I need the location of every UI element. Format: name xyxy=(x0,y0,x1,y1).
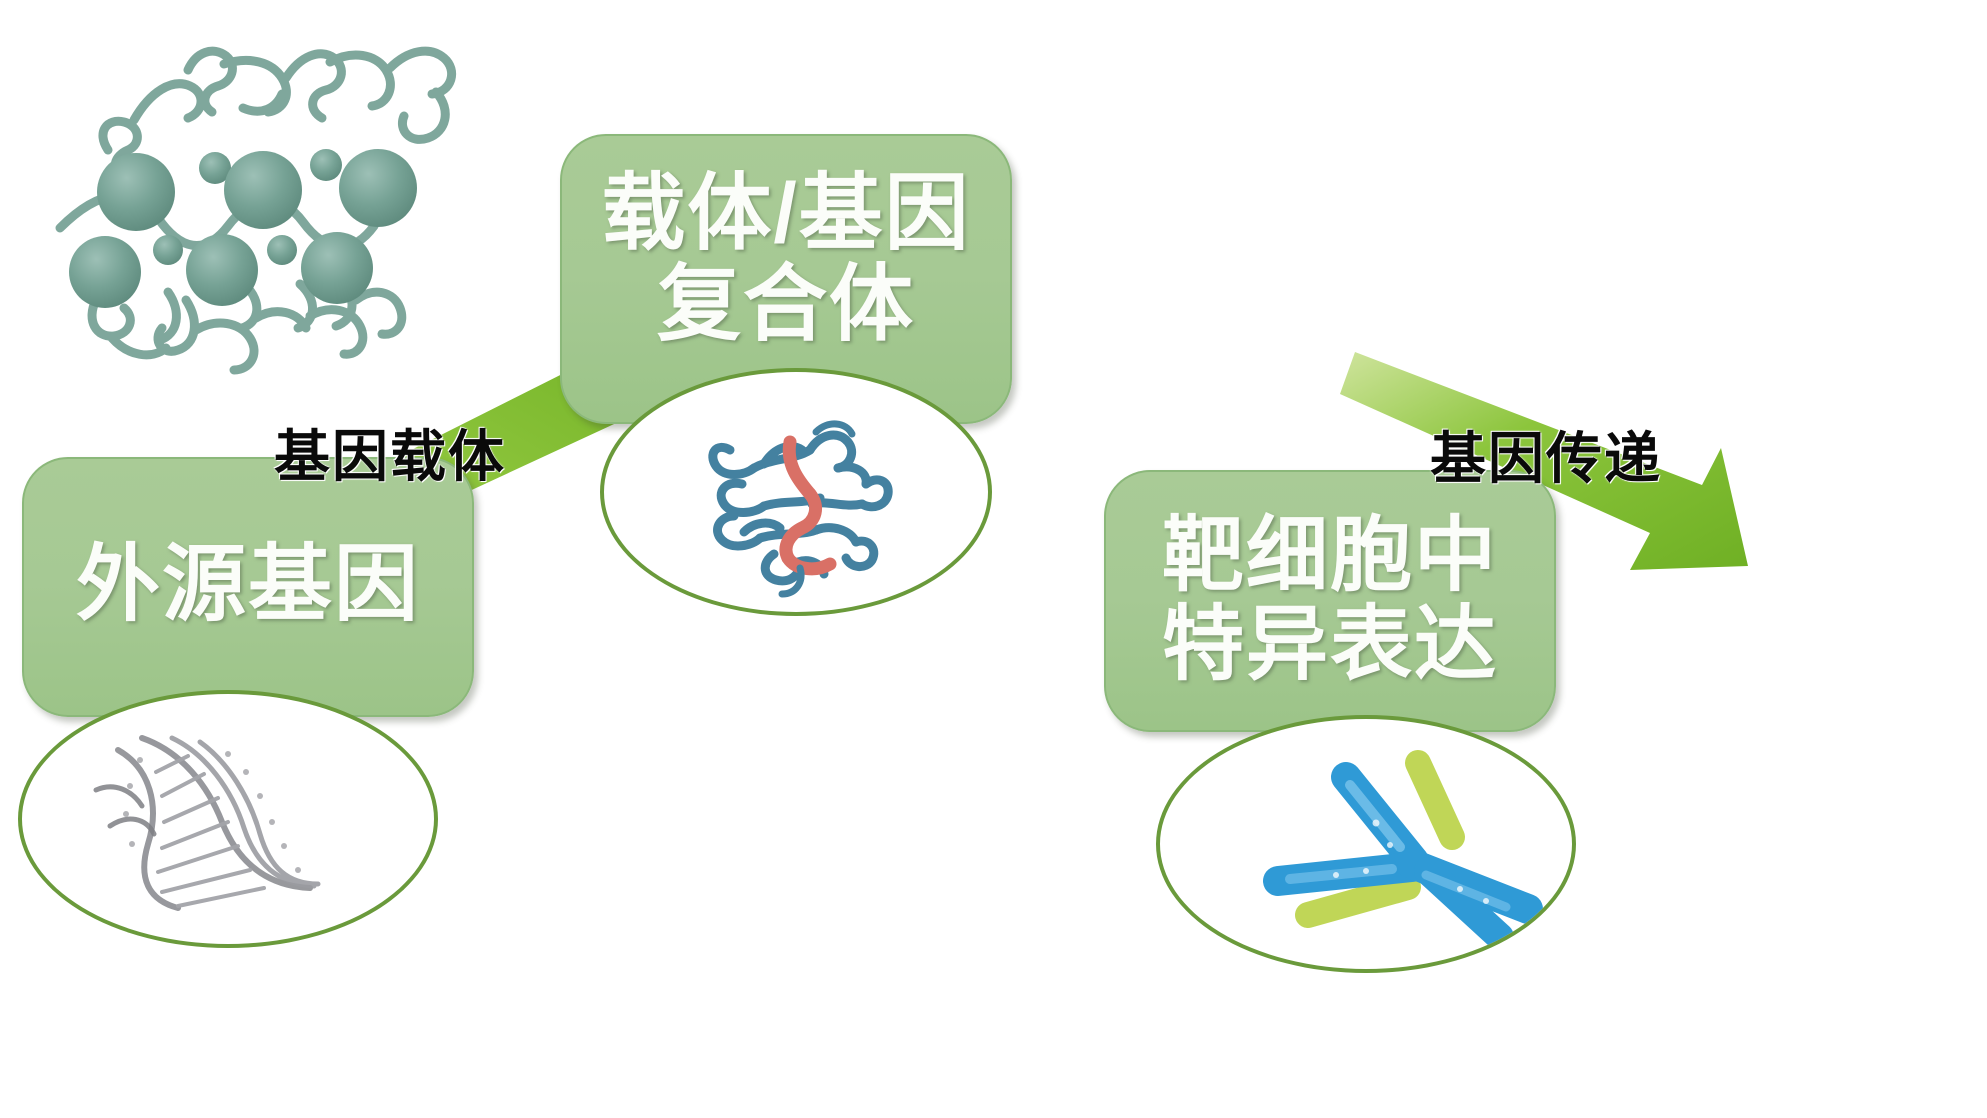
edge-label-gene-vector: 基因载体 xyxy=(274,412,506,493)
protein-ribbon-structure-icon xyxy=(604,372,988,612)
node-right-line-1: 靶细胞中 xyxy=(1162,512,1498,601)
figure-ellipse-antibody xyxy=(1156,715,1576,973)
antibody-y-shape-icon xyxy=(1160,719,1572,969)
node-left-line-1: 外源基因 xyxy=(76,539,420,630)
figure-ellipse-protein xyxy=(600,368,992,616)
node-right-line-2: 特异表达 xyxy=(1162,601,1498,690)
edge-label-gene-delivery: 基因传递 xyxy=(1430,414,1662,495)
node-foreign-gene[interactable]: 外源基因 xyxy=(22,457,474,717)
node-target-cell-expression[interactable]: 靶细胞中 特异表达 xyxy=(1104,470,1556,732)
figure-ellipse-dna xyxy=(18,690,438,948)
node-center-line-2: 复合体 xyxy=(657,259,915,350)
diagram-canvas: 载体/基因 复合体 外源基因 靶细胞中 特异表达 基因载体 基因传递 xyxy=(0,0,1987,1118)
dna-double-helix-icon xyxy=(22,694,434,944)
node-center-line-1: 载体/基因 xyxy=(601,168,970,259)
